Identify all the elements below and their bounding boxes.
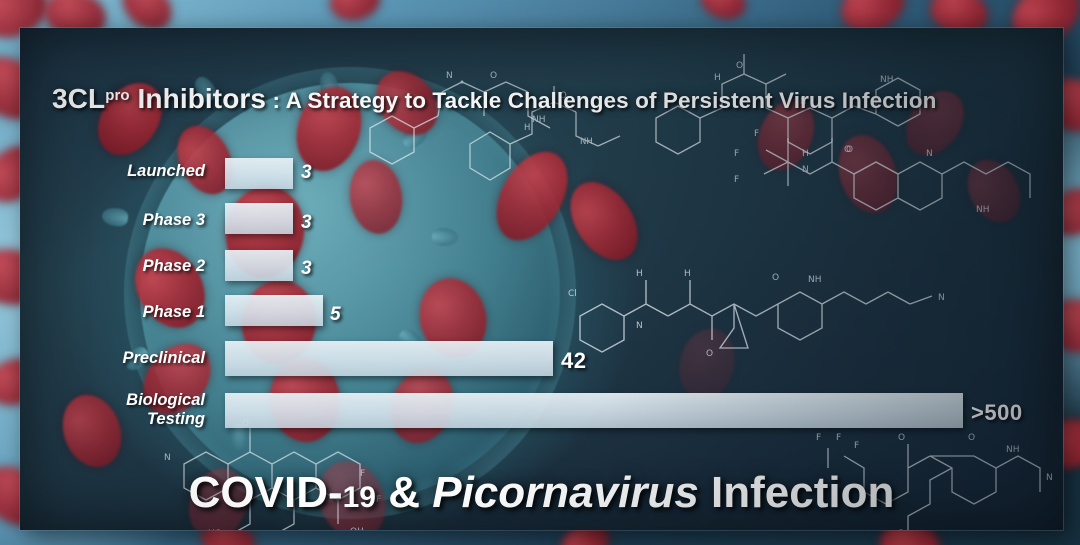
- bar-value-phase-3: 3: [301, 212, 312, 234]
- bar-phase-2: [225, 250, 293, 281]
- page-title: 3CLpro Inhibitors : A Strategy to Tackle…: [52, 83, 1062, 115]
- headline-part-1: COVID-: [189, 468, 343, 517]
- blood-cell-icon: [327, 0, 384, 25]
- bar-label-phase-3: Phase 3: [60, 211, 205, 230]
- svg-text:NH: NH: [1006, 445, 1020, 455]
- headline-part-3: Infection: [699, 468, 895, 517]
- bar-value-launched: 3: [301, 162, 312, 184]
- poster-graphic: N O NH H O NH: [0, 0, 1080, 545]
- bar-label-phase-1: Phase 1: [60, 303, 205, 322]
- bar-phase-3: [225, 203, 293, 234]
- bottom-headline: COVID-19 & Picornavirus Infection: [20, 468, 1063, 518]
- bar-label-launched: Launched: [60, 162, 205, 181]
- bar-biological-testing: [225, 393, 963, 428]
- svg-text:O: O: [898, 433, 905, 443]
- svg-text:O: O: [736, 61, 743, 71]
- title-lead: 3CL: [52, 83, 105, 114]
- svg-text:F: F: [816, 433, 821, 443]
- bar-value-biological-testing: >500: [971, 400, 1023, 426]
- svg-text:O: O: [490, 71, 497, 81]
- bar-label-phase-2: Phase 2: [60, 257, 205, 276]
- headline-part-2: &: [376, 468, 432, 517]
- svg-text:N: N: [164, 453, 171, 463]
- bar-launched: [225, 158, 293, 189]
- headline-number: 19: [343, 481, 376, 514]
- svg-text:F: F: [836, 433, 841, 443]
- svg-text:N: N: [446, 71, 453, 81]
- bar-label-preclinical: Preclinical: [60, 349, 205, 368]
- svg-text:O: O: [968, 433, 975, 443]
- blood-cell-icon: [695, 0, 750, 25]
- svg-text:S: S: [898, 529, 904, 530]
- svg-text:H: H: [714, 73, 721, 83]
- bar-phase-1: [225, 295, 323, 326]
- bar-chart: Launched 3 Phase 3 3 Phase 2 3 Phase 1 5: [20, 124, 1063, 424]
- title-superscript: pro: [105, 87, 129, 104]
- headline-italic: Picornavirus: [432, 468, 699, 517]
- bar-value-phase-2: 3: [301, 258, 312, 280]
- svg-text:F: F: [854, 441, 859, 451]
- content-panel: N O NH H O NH: [20, 28, 1063, 530]
- bar-value-phase-1: 5: [330, 304, 341, 326]
- bar-label-line-2: Testing: [147, 410, 205, 428]
- bar-label-line-1: Biological: [126, 391, 205, 409]
- bar-label-biological-testing: Biological Testing: [60, 391, 205, 429]
- bar-value-preclinical: 42: [561, 348, 586, 374]
- bar-preclinical: [225, 341, 553, 376]
- title-rest: : A Strategy to Tackle Challenges of Per…: [266, 88, 936, 113]
- title-lead-tail: Inhibitors: [130, 83, 266, 114]
